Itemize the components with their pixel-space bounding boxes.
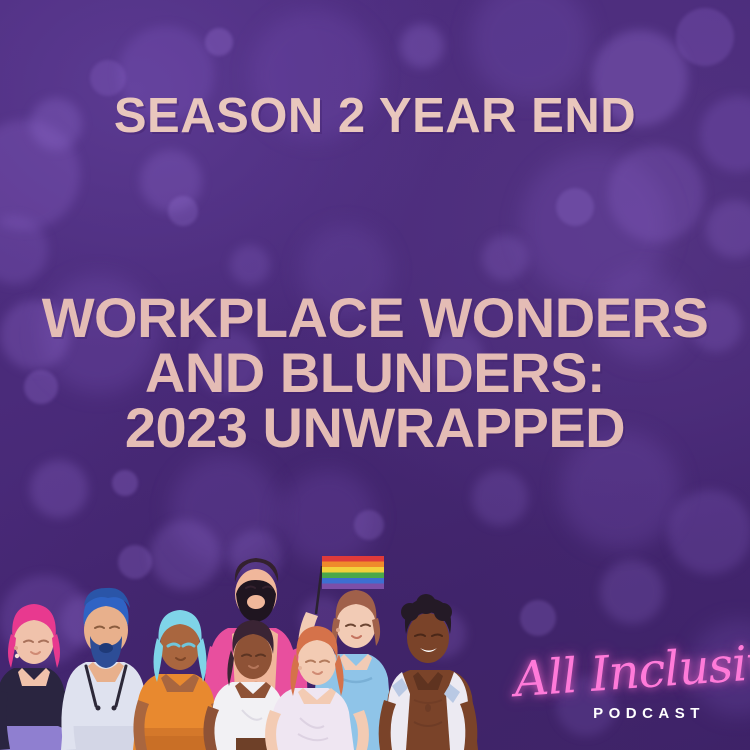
logo-script-text: All Inclusive [513, 642, 726, 705]
pride-flag [322, 556, 384, 589]
episode-title: WORKPLACE WONDERS AND BLUNDERS: 2023 UNW… [0, 290, 750, 455]
season-heading: SEASON 2 YEAR END [0, 88, 750, 144]
podcast-episode-cover: SEASON 2 YEAR END WORKPLACE WONDERS AND … [0, 0, 750, 750]
person-white-open-shirt [379, 594, 478, 750]
diverse-people-illustration [0, 550, 520, 750]
episode-title-line-2: AND BLUNDERS: [0, 345, 750, 400]
episode-title-line-1: WORKPLACE WONDERS [0, 290, 750, 345]
podcast-logo: All Inclusive PODCAST [514, 649, 724, 722]
episode-title-line-3: 2023 UNWRAPPED [0, 400, 750, 455]
logo-subtitle: PODCAST [514, 705, 724, 722]
